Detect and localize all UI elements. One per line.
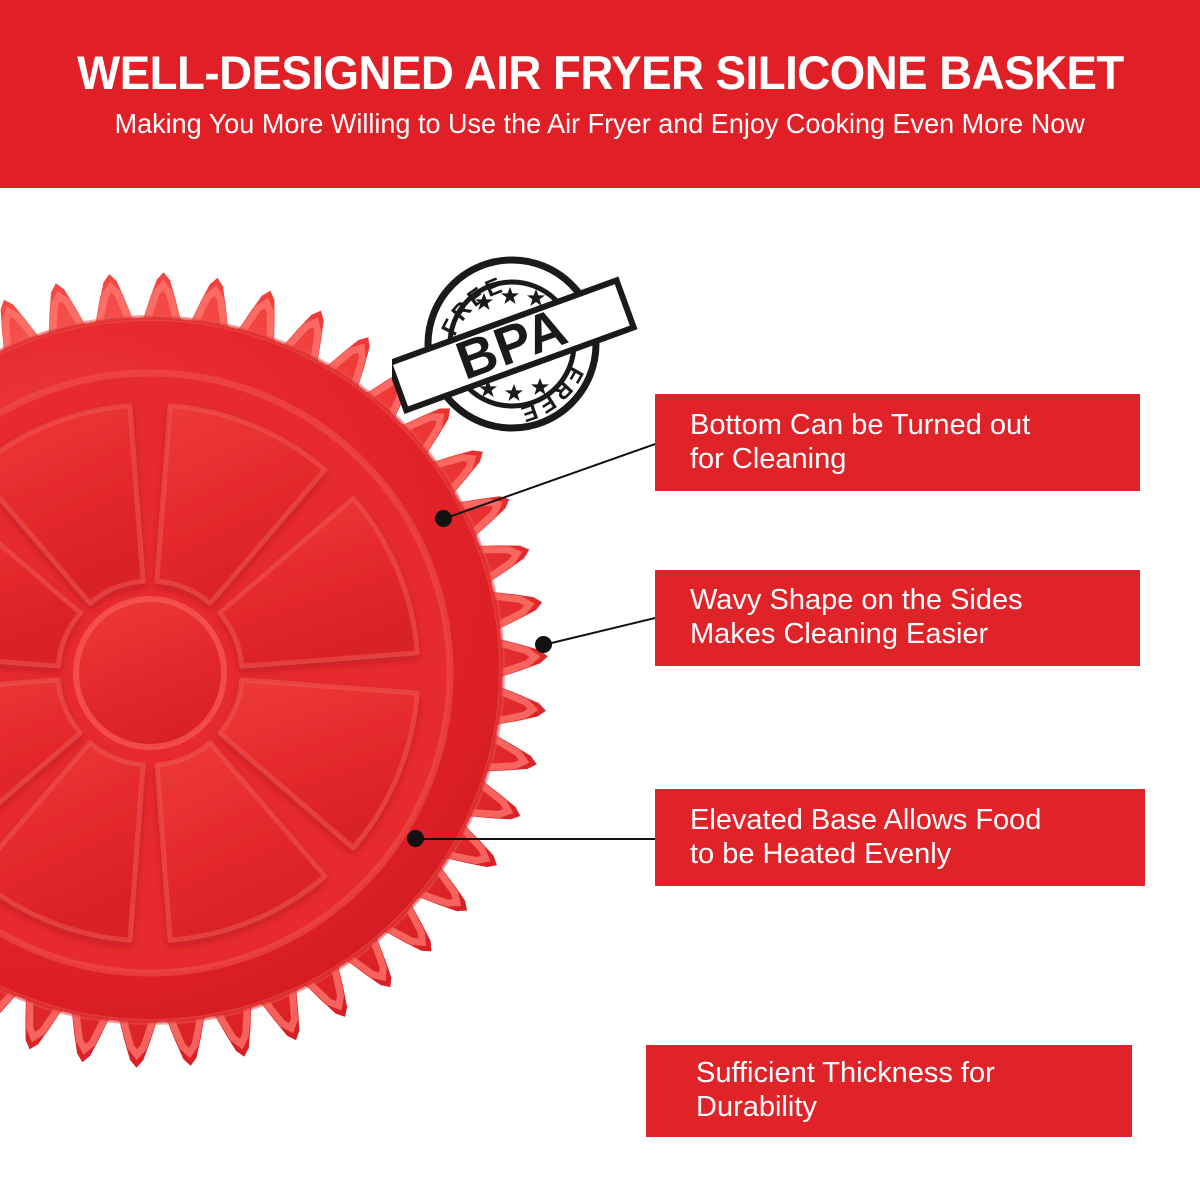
callout-3-line-2: to be Heated Evenly: [690, 838, 1145, 872]
bpa-free-badge: FREE FREE: [392, 243, 640, 433]
callout-4-line-2: Durability: [696, 1091, 1132, 1125]
callout-elevated-base: Elevated Base Allows Food to be Heated E…: [655, 789, 1145, 886]
callout-sufficient-thickness: Sufficient Thickness for Durability: [646, 1045, 1132, 1137]
callout-2-line-2: Makes Cleaning Easier: [690, 618, 1140, 652]
callout-bottom-turned-out: Bottom Can be Turned out for Cleaning: [655, 394, 1140, 491]
callout-wavy-shape: Wavy Shape on the Sides Makes Cleaning E…: [655, 570, 1140, 666]
callout-1-line-1: Bottom Can be Turned out: [690, 409, 1140, 443]
header-banner: WELL-DESIGNED AIR FRYER SILICONE BASKET …: [0, 0, 1200, 188]
infographic-page: WELL-DESIGNED AIR FRYER SILICONE BASKET …: [0, 0, 1200, 1182]
leader-dot-2: [535, 636, 552, 653]
callout-1-line-2: for Cleaning: [690, 443, 1140, 477]
page-subtitle: Making You More Willing to Use the Air F…: [115, 109, 1085, 140]
leader-line-3: [415, 838, 655, 840]
leader-dot-1: [435, 510, 452, 527]
page-title: WELL-DESIGNED AIR FRYER SILICONE BASKET: [77, 48, 1124, 97]
callout-4-line-1: Sufficient Thickness for: [696, 1057, 1132, 1091]
leader-dot-3: [407, 830, 424, 847]
callout-2-line-1: Wavy Shape on the Sides: [690, 584, 1140, 618]
callout-3-line-1: Elevated Base Allows Food: [690, 804, 1145, 838]
